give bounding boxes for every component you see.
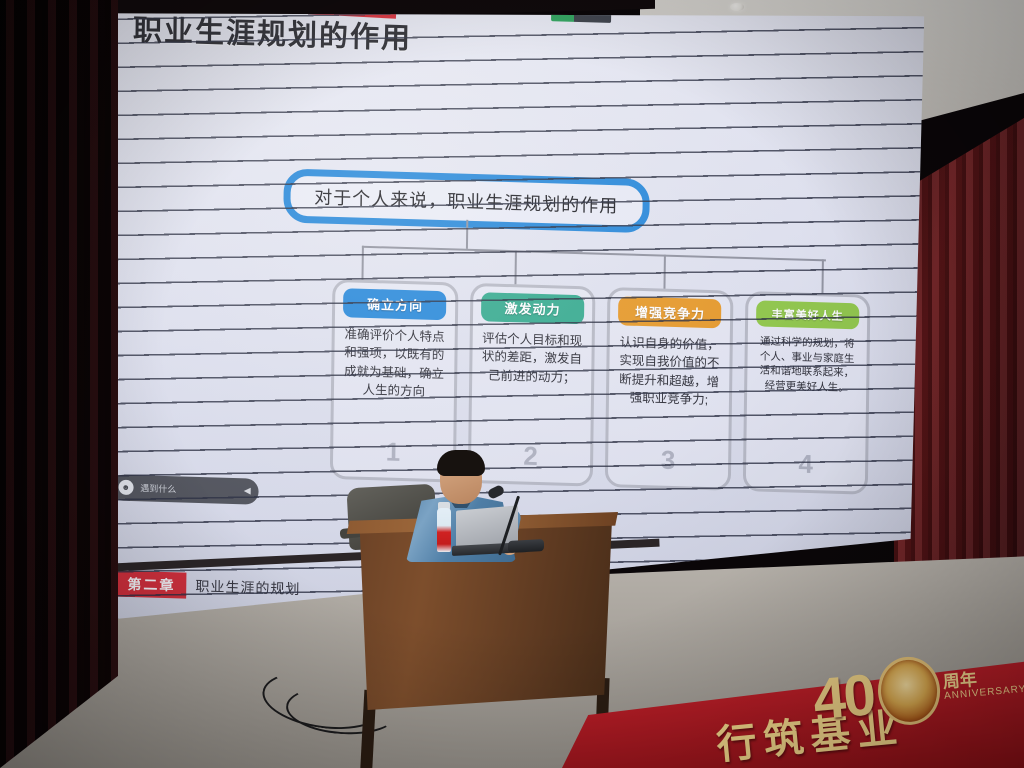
connector-branch-1 [362, 245, 364, 280]
card-item: 丰富美好人生 通过科学的规划，将个人、事业与家庭生活和谐地联系起来，经营更美好人… [743, 291, 871, 495]
card-body: 通过科学的规划，将个人、事业与家庭生活和谐地联系起来，经营更美好人生。 [752, 335, 862, 396]
presentation-control-bar[interactable]: ☻ 遇到什么 ◀ [110, 474, 259, 504]
water-bottle-icon [437, 508, 451, 552]
connector-branch-3 [664, 254, 666, 289]
lecture-hall-scene: 职业生涯规划的作用 对于个人来说，职业生涯规划的作用 确立方向 准确评价个人特点… [0, 0, 1024, 768]
card-number: 4 [798, 449, 813, 480]
connector-branch-2 [515, 250, 517, 285]
card-body: 评估个人目标和现状的差距，激发自己前进的动力； [477, 330, 587, 388]
card-heading: 确立方向 [343, 289, 446, 321]
card-heading: 激发动力 [481, 293, 584, 325]
card-body: 认识自身的价值，实现自我价值的不断提升和超越，增强职业竞争力; [614, 334, 725, 410]
chapter-badge: 第二章 [116, 570, 186, 598]
stage-curtain-left [0, 0, 118, 768]
presenter-hair [437, 450, 485, 476]
connector-branch-4 [821, 259, 823, 294]
card-heading: 丰富美好人生 [756, 301, 859, 330]
chapter-title: 职业生涯的规划 [195, 575, 300, 598]
control-bar-text: 遇到什么 [140, 482, 237, 498]
presenter-avatar-icon[interactable]: ☻ [118, 480, 133, 495]
card-item: 增强竞争力 认识自身的价值，实现自我价值的不断提升和超越，增强职业竞争力; 3 [605, 287, 733, 491]
card-body: 准确评价个人特点和强项，以既有的成就为基础，确立人生的方向 [339, 325, 450, 401]
connector-horizontal [362, 245, 826, 261]
anniversary-number: 40 [810, 661, 876, 733]
connector-vertical-main [466, 220, 468, 248]
anniversary-label: 周年 ANNIVERSARY [942, 667, 1024, 702]
anniversary-seal-icon [875, 654, 943, 727]
prev-arrow-icon[interactable]: ◀ [244, 486, 251, 497]
card-number: 2 [523, 441, 538, 472]
card-heading: 增强竞争力 [618, 297, 721, 329]
slide-title: 职业生涯规划的作用 [133, 7, 413, 57]
microphone-base [508, 539, 544, 553]
slide-footer: 第二章 职业生涯的规划 [116, 570, 300, 601]
screen-top-marker [551, 9, 611, 23]
card-number: 3 [661, 445, 676, 476]
page-indicator: page 29 [847, 564, 890, 576]
